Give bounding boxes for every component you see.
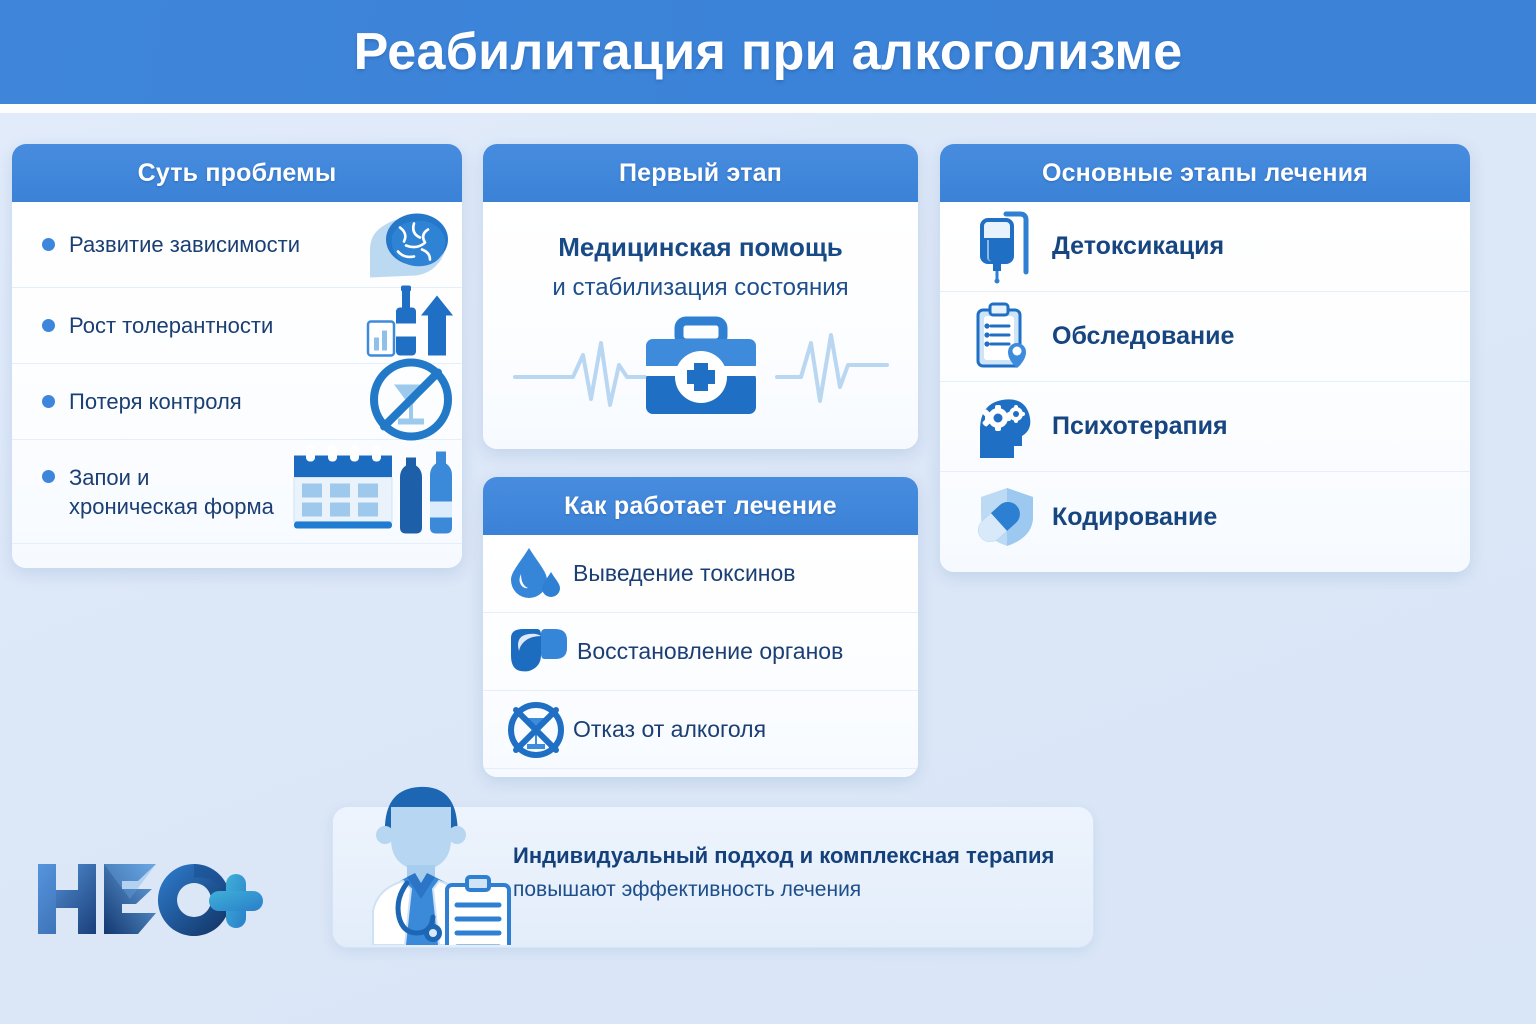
how-item-label: Восстановление органов (577, 638, 843, 665)
stage-item-label: Обследование (1052, 322, 1234, 351)
card-problem-title: Суть проблемы (138, 159, 337, 188)
stage-item-label: Психотерапия (1052, 412, 1228, 441)
page-title: Реабилитация при алкоголизме (354, 22, 1183, 82)
problem-item-label: Потеря контроля (69, 387, 242, 416)
header-divider (0, 104, 1536, 113)
problem-item-label: Запои и хроническая форма (69, 463, 274, 521)
first-stage-text: Медицинская помощь и стабилизация состоя… (483, 202, 918, 305)
card-how-it-works-title: Как работает лечение (564, 492, 837, 521)
no-drinking-glass-icon (507, 701, 565, 759)
infographic-page: Реабилитация при алкоголизме Суть пробле… (0, 0, 1536, 1024)
card-first-stage-header: Первый этап (483, 144, 918, 202)
list-item[interactable]: Потеря контроля (12, 364, 462, 440)
calendar-bottles-icon (288, 441, 458, 542)
problem-item-label-line1: Запои и (69, 465, 149, 490)
water-drop-icon (507, 546, 565, 602)
bullet-icon (42, 395, 55, 408)
no-alcohol-icon (368, 356, 454, 447)
card-problem: Суть проблемы Развитие зависимости Рост … (12, 144, 462, 568)
list-item[interactable]: Обследование (940, 292, 1470, 382)
problem-item-label: Рост толерантности (69, 311, 273, 340)
bottom-banner: Индивидуальный подход и комплексная тера… (332, 806, 1094, 948)
card-main-stages-body: Детоксикация (940, 202, 1470, 572)
list-item[interactable]: Развитие зависимости (12, 202, 462, 288)
card-how-it-works-body: Выведение токсинов Восстановление органо… (483, 535, 918, 777)
card-main-stages-title: Основные этапы лечения (1042, 159, 1368, 188)
how-item-label: Отказ от алкоголя (573, 716, 766, 743)
pill-shield-icon (970, 484, 1040, 550)
list-item[interactable]: Кодирование (940, 472, 1470, 562)
card-problem-header: Суть проблемы (12, 144, 462, 202)
page-header: Реабилитация при алкоголизме (0, 0, 1536, 104)
list-item[interactable]: Запои и хроническая форма (12, 440, 462, 544)
liver-icon (507, 626, 569, 678)
bottle-growth-arrow-icon (366, 285, 454, 366)
card-how-it-works-header: Как работает лечение (483, 477, 918, 535)
card-first-stage-body: Медицинская помощь и стабилизация состоя… (483, 202, 918, 449)
bullet-icon (42, 470, 55, 483)
first-stage-line1: Медицинская помощь (483, 230, 918, 264)
first-stage-line2: и стабилизация состояния (483, 271, 918, 305)
bullet-icon (42, 319, 55, 332)
banner-text: Индивидуальный подход и комплексная тера… (513, 841, 1054, 905)
stage-item-label: Детоксикация (1052, 232, 1224, 261)
list-item[interactable]: Детоксикация (940, 202, 1470, 292)
first-aid-kit-heartbeat-icon (483, 311, 918, 421)
iv-drip-icon (970, 210, 1040, 284)
card-first-stage: Первый этап Медицинская помощь и стабили… (483, 144, 918, 449)
list-item[interactable]: Психотерапия (940, 382, 1470, 472)
brain-head-icon (362, 205, 454, 284)
doctor-clipboard-icon (351, 773, 519, 950)
card-main-stages-header: Основные этапы лечения (940, 144, 1470, 202)
list-item[interactable]: Отказ от алкоголя (483, 691, 918, 769)
list-item[interactable]: Выведение токсинов (483, 535, 918, 613)
problem-item-label: Развитие зависимости (69, 230, 300, 259)
neo-plus-logo (34, 856, 264, 947)
clipboard-checkup-icon (970, 302, 1040, 372)
stage-item-label: Кодирование (1052, 503, 1217, 532)
how-item-label: Выведение токсинов (573, 560, 796, 587)
card-main-stages: Основные этапы лечения Детоксикация (940, 144, 1470, 572)
card-first-stage-title: Первый этап (619, 159, 782, 188)
problem-item-label-line2: хроническая форма (69, 494, 274, 519)
head-gears-icon (970, 392, 1040, 462)
card-problem-body: Развитие зависимости Рост толерантности (12, 202, 462, 568)
bullet-icon (42, 238, 55, 251)
banner-line2: повышают эффективность лечения (513, 875, 1054, 905)
list-item[interactable]: Рост толерантности (12, 288, 462, 364)
list-item[interactable]: Восстановление органов (483, 613, 918, 691)
banner-line1: Индивидуальный подход и комплексная тера… (513, 841, 1054, 871)
card-how-it-works: Как работает лечение Выведение токсинов (483, 477, 918, 777)
